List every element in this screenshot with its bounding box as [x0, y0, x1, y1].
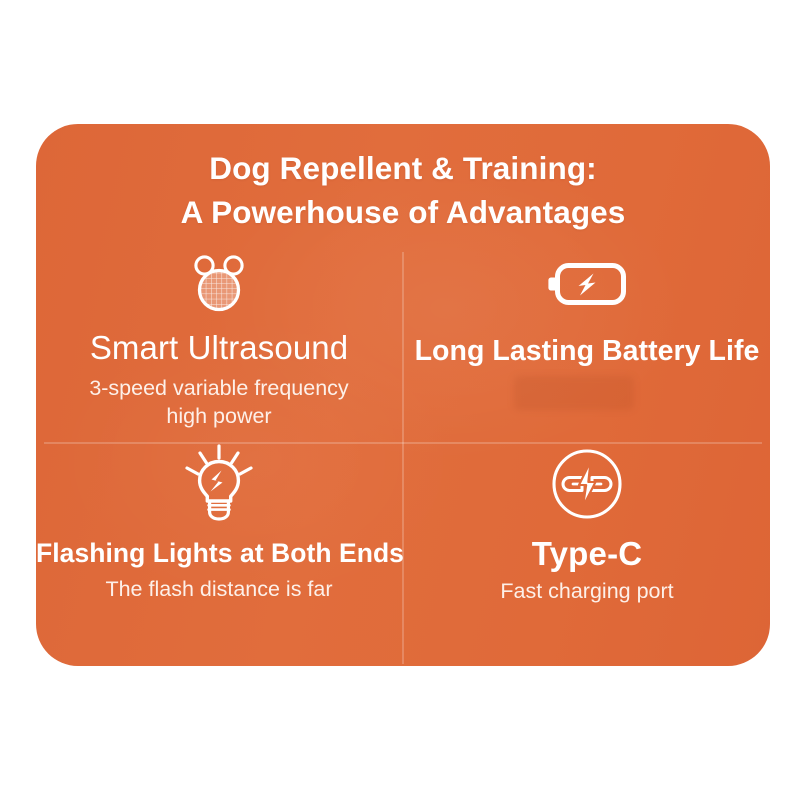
page-title-line-2: A Powerhouse of Advantages: [36, 190, 770, 234]
feature-subtext-line-1: Fast charging port: [404, 577, 770, 605]
battery-charging-icon: [404, 246, 770, 322]
feature-heading-battery-life: Long Lasting Battery Life: [404, 332, 770, 370]
feature-subtext-line-2: high power: [36, 402, 402, 430]
feature-item-flashing-lights: Flashing Lights at Both Ends The flash d…: [36, 446, 402, 656]
feature-heading-flashing-lights: Flashing Lights at Both Ends: [36, 536, 402, 570]
feature-subtext-type-c: Fast charging port: [404, 577, 770, 605]
feature-item-smart-ultrasound: Smart Ultrasound 3-speed variable freque…: [36, 246, 402, 444]
background-blotch: [514, 376, 634, 410]
feature-item-type-c: Type-C Fast charging port: [404, 446, 770, 656]
feature-heading-type-c: Type-C: [404, 534, 770, 574]
page-title: Dog Repellent & Training: A Powerhouse o…: [36, 146, 770, 234]
feature-subtext-flashing-lights: The flash distance is far: [36, 575, 402, 603]
page-canvas: Dog Repellent & Training: A Powerhouse o…: [0, 0, 800, 800]
feature-item-battery-life: Long Lasting Battery Life: [404, 246, 770, 444]
feature-highlight-card: Dog Repellent & Training: A Powerhouse o…: [36, 124, 770, 666]
feature-subtext-line-1: The flash distance is far: [36, 575, 402, 603]
lightbulb-flash-icon: [36, 446, 402, 522]
feature-subtext-line-1: 3-speed variable frequency: [36, 374, 402, 402]
feature-heading-smart-ultrasound: Smart Ultrasound: [36, 328, 402, 368]
ultrasound-speaker-mesh-icon: [36, 246, 402, 322]
page-title-line-1: Dog Repellent & Training:: [36, 146, 770, 190]
usb-type-c-fast-charge-icon: [404, 446, 770, 522]
feature-subtext-smart-ultrasound: 3-speed variable frequency high power: [36, 374, 402, 430]
